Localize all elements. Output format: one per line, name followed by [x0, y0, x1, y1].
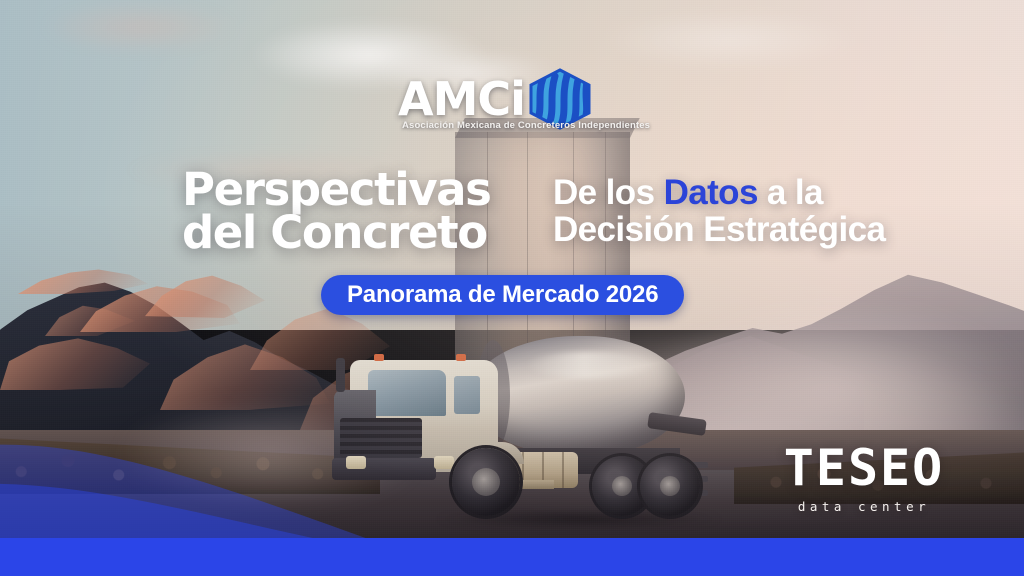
- page-title-right: De los Datos a la Decisión Estratégica: [553, 174, 953, 248]
- amci-wordmark: AMCi: [398, 76, 525, 122]
- title-right-post: a la: [758, 173, 823, 212]
- title-right-line1: De los Datos a la: [553, 174, 953, 211]
- poster-canvas: AMCi Asociación Mexicana de Concreteros …: [0, 0, 1024, 576]
- title-right-line2: Decisión Estratégica: [553, 211, 953, 248]
- bottom-brand-bar: [0, 538, 1024, 576]
- title-right-accent: Datos: [664, 173, 758, 212]
- amci-tagline: Asociación Mexicana de Concreteros Indep…: [402, 120, 626, 131]
- amci-logo[interactable]: AMCi Asociación Mexicana de Concreteros …: [398, 64, 626, 134]
- title-left-line1: Perspectivas: [182, 168, 542, 211]
- title-left-line2: del Concreto: [182, 211, 542, 254]
- page-title-left: Perspectivas del Concreto: [182, 168, 542, 254]
- title-right-pre: De los: [553, 173, 664, 212]
- teseo-logo[interactable]: TESEO data center: [760, 443, 968, 514]
- status-badge: Panorama de Mercado 2026: [321, 275, 684, 315]
- teseo-subtitle: data center: [760, 499, 968, 514]
- badge-label: Panorama de Mercado 2026: [347, 281, 658, 309]
- teseo-wordmark: TESEO: [760, 443, 968, 493]
- brand-wave-swoosh: [0, 418, 410, 558]
